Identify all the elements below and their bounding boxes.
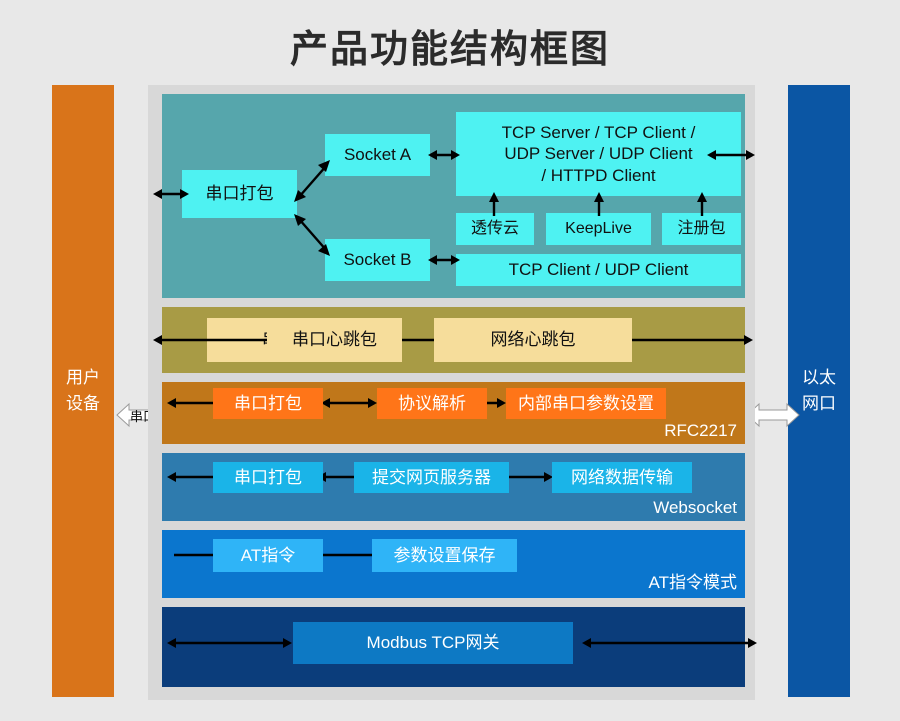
arrow-serialpack-to-socket-b [294,214,332,256]
band-at-caption: AT指令模式 [649,568,737,593]
band-websocket: 串口打包 提交网页服务器 网络数据传输 Websocket [162,453,745,521]
sidebar-ethernet-port: 以太 网口 [788,85,850,697]
arrow-serialpack-to-socket-a [294,160,332,202]
diagram-root: 产品功能结构框图 用户 设备 以太 网口 串口 串口打包 [0,0,900,721]
band-rfc2217-caption: RFC2217 [664,421,737,441]
node-protocol-stack-line3: / HTTPD Client [541,165,655,186]
node-protocol-stack-line2: UDP Server / UDP Client [504,143,692,164]
arrow-keeplive-up [592,192,606,216]
node-socket-a[interactable]: Socket A [325,134,430,176]
arrow-socket-a-to-protocols [428,147,460,163]
sidebar-user-device: 用户 设备 [52,85,114,697]
arrow-cloud-up [487,192,501,216]
sidebar-ethernet-port-line2: 网口 [802,391,836,417]
band-websocket-caption: Websocket [653,498,737,518]
node-protocol-stack[interactable]: TCP Server / TCP Client / UDP Server / U… [456,112,741,196]
diagram-container: 串口打包 Socket A Socket B TCP Server / TCP … [148,85,755,700]
arrow-register-up [695,192,709,216]
arrow-network-left-in [153,186,189,202]
sidebar-user-device-line1: 用户 [66,365,100,391]
page-title: 产品功能结构框图 [0,18,900,73]
node-ws-network-data[interactable]: 网络数据传输 [552,462,692,493]
arrow-protocols-right-out [707,147,755,163]
sidebar-ethernet-port-line1: 以太 [802,365,836,391]
node-rfc-protocol-parse[interactable]: 协议解析 [377,388,487,419]
node-socket-b-protocols[interactable]: TCP Client / UDP Client [456,254,741,286]
node-serial-heartbeat-cover[interactable]: 串口心跳包 [267,318,402,362]
arrow-socket-b-to-protocols [428,252,460,268]
band-modbus: Modbus TCP网关 [162,607,745,687]
node-at-save-params[interactable]: 参数设置保存 [372,539,517,572]
sidebar-user-device-line2: 设备 [66,391,100,417]
node-keeplive[interactable]: KeepLive [546,213,651,245]
node-at-command[interactable]: AT指令 [213,539,323,572]
node-protocol-stack-line1: TCP Server / TCP Client / [502,122,696,143]
node-rfc-internal-params[interactable]: 内部串口参数设置 [506,388,666,419]
node-ws-serial-pack[interactable]: 串口打包 [213,462,323,493]
node-modbus-tcp-gateway[interactable]: Modbus TCP网关 [293,622,573,664]
arrow-rfc-pack-to-parse [321,395,377,411]
arrow-modbus-left [167,635,292,651]
node-cloud-passthrough[interactable]: 透传云 [456,213,534,245]
node-network-heartbeat-cover[interactable]: 网络心跳包 [434,318,632,362]
node-serial-pack-network[interactable]: 串口打包 [182,170,297,218]
node-register-packet[interactable]: 注册包 [662,213,741,245]
band-network: 串口打包 Socket A Socket B TCP Server / TCP … [162,94,745,298]
arrow-modbus-right [582,635,757,651]
band-heartbeat: 串口心跳包 网络心跳包 串口心跳包 网络心跳包 [162,307,745,373]
band-rfc2217: 串口打包 协议解析 内部串口参数设置 RFC2217 [162,382,745,444]
node-ws-submit-web-server[interactable]: 提交网页服务器 [354,462,509,493]
node-rfc-serial-pack[interactable]: 串口打包 [213,388,323,419]
node-socket-b[interactable]: Socket B [325,239,430,281]
band-at-command: AT指令 参数设置保存 AT指令模式 [162,530,745,598]
